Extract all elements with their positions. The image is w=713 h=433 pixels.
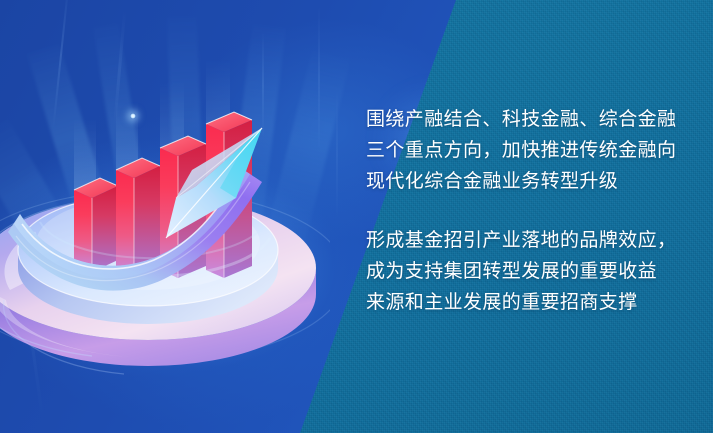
glow-dot — [130, 113, 136, 119]
banner: 围绕产融结合、科技金融、综合金融 三个重点方向，加快推进传统金融向 现代化综合金… — [0, 0, 713, 433]
paragraph-2: 形成基金招引产业落地的品牌效应， 成为支持集团转型发展的重要收益 来源和主业发展… — [366, 225, 696, 318]
paragraph-1-line-1: 围绕产融结合、科技金融、综合金融 — [366, 104, 696, 135]
paragraph-1-line-2: 三个重点方向，加快推进传统金融向 — [366, 135, 696, 166]
paragraph-1-line-3: 现代化综合金融业务转型升级 — [366, 166, 696, 197]
text-column: 围绕产融结合、科技金融、综合金融 三个重点方向，加快推进传统金融向 现代化综合金… — [366, 104, 696, 318]
paragraph-2-line-1: 形成基金招引产业落地的品牌效应， — [366, 225, 696, 256]
paragraph-2-line-2: 成为支持集团转型发展的重要收益 — [366, 256, 696, 287]
paragraph-2-line-3: 来源和主业发展的重要招商支撑 — [366, 287, 696, 318]
paragraph-1: 围绕产融结合、科技金融、综合金融 三个重点方向，加快推进传统金融向 现代化综合金… — [366, 104, 696, 197]
